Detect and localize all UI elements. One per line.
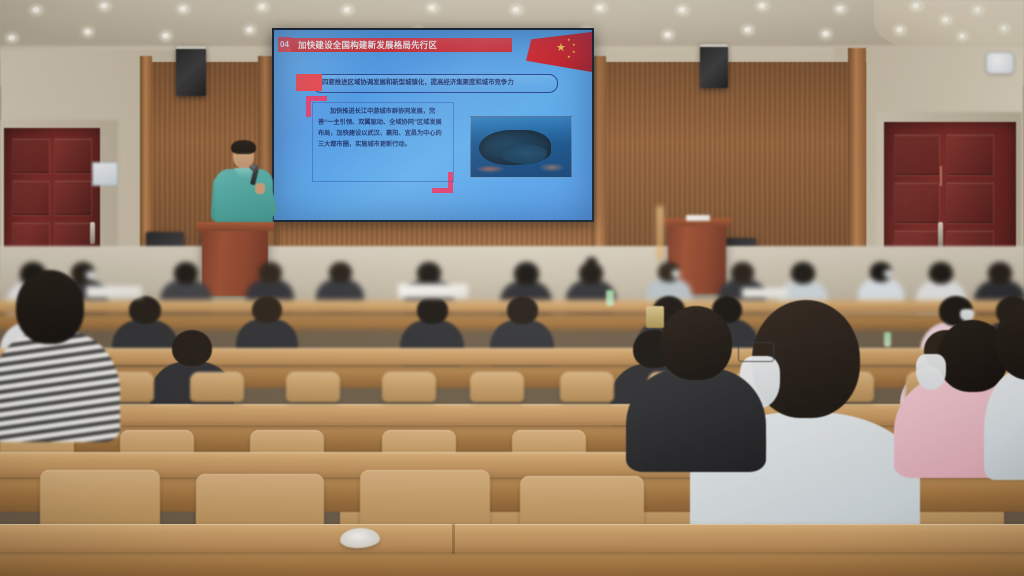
face-mask [916,354,946,390]
ceiling-downlight [744,27,752,33]
ceiling-downlight [512,7,521,13]
audience-member-torso [984,370,1024,480]
ceiling-downlight [912,3,921,9]
ceiling-downlight [162,33,170,39]
foreground-desk-front [0,552,1024,576]
ceiling-downlight [942,17,950,23]
wall-speaker-left [176,46,206,96]
flag-star-3: ★ [572,50,576,54]
audience-member-head [329,262,352,283]
audience-member-head [507,296,538,324]
ceiling-downlight [974,7,982,13]
wall-sign-left [92,162,118,186]
ceiling-downlight [959,34,966,39]
desk-seam [452,524,455,554]
audience-member-head [731,262,754,283]
audience-member-head [259,262,282,283]
audience-chair[interactable] [286,372,340,402]
audience-member-foreground [984,300,1024,460]
podium-paper [686,215,710,221]
ceiling-downlight [8,35,16,41]
audience-member-head [514,262,539,285]
projection-screen: ★ ★ ★ ★ ★ 04 加快建设全国构建新发展格局先行区 四要推进区域协调发展… [272,28,594,222]
audience-chair[interactable] [190,372,244,402]
ceiling-downlight [758,3,767,9]
audience-member-head [174,262,198,284]
face-mask [672,270,681,278]
slide-title: 加快建设全国构建新发展格局先行区 [298,38,437,52]
wall-speaker-right [700,44,728,88]
audience-member-torso [626,368,766,472]
audience-member-head [660,306,732,380]
face-mask [884,270,893,278]
foreground-desk [0,524,1024,554]
audience-member-head [988,262,1012,284]
slide-subtitle: 四要推进区域协调发展和新型城镇化，提高经济集聚度和城市竞争力 [322,74,514,91]
ceiling-downlight [32,7,41,13]
ceiling-downlight [179,6,188,12]
audience-member-head [791,262,815,284]
ceiling-downlight [258,4,267,10]
flag-star-2: ★ [572,43,576,47]
audience-member-head [417,262,441,284]
presentation-slide: ★ ★ ★ ★ ★ 04 加快建设全国构建新发展格局先行区 四要推进区域协调发展… [274,30,592,220]
flag-star-large: ★ [556,43,566,54]
china-flag-graphic: ★ ★ ★ ★ ★ [526,32,592,72]
audience-member-head [929,262,953,284]
audience-member-head [417,296,448,324]
notebook-paper [398,284,468,298]
audience-chair[interactable] [382,372,436,402]
slide-photo [470,116,572,178]
wall-clock [986,52,1014,74]
audience-member-torso [0,332,120,442]
water-bottle [606,290,614,306]
ceiling-downlight [343,7,352,13]
ceiling-downlight [596,5,605,11]
ceiling-downlight [678,7,687,13]
lecture-hall-photograph: ★ ★ ★ ★ ★ 04 加快建设全国构建新发展格局先行区 四要推进区域协调发展… [0,0,1024,576]
slide-body-text: 加快推进长江中游城市群协同发展，完善“一主引领、双翼驱动、全域协同”区域发展布局… [318,106,446,150]
ceiling-downlight [84,29,92,35]
flag-star-4: ★ [567,55,571,59]
ceiling-downlight [1001,26,1008,31]
audience-chair[interactable] [470,372,524,402]
ceiling-downlight [836,6,845,12]
ceiling-downlight [822,31,830,37]
audience-member-head [16,270,84,344]
audience-member-foreground [0,270,120,430]
podium-top [196,222,274,231]
ceiling-downlight [428,5,437,11]
presenter-glasses [235,152,252,157]
slide-section-number: 04 [278,37,291,52]
ceiling-downlight [100,3,109,9]
audience-chair[interactable] [560,372,614,402]
audience-member-foreground [626,306,766,456]
audience-member-head [996,300,1024,380]
notebook-paper [742,288,788,298]
hair-clip [646,306,664,328]
audience-member-head [252,296,282,323]
face-mask [960,309,974,321]
door-handle-right[interactable] [938,222,943,248]
slide-subtitle-accent [296,74,322,91]
audience-member-head [129,296,161,324]
flag-star-1: ★ [567,38,571,42]
ceiling-downlight [896,27,904,33]
audience-member-head [172,330,212,366]
ceiling-downlight [246,27,254,33]
podium-lamp-glow [657,206,663,260]
ceiling-downlight [664,32,672,38]
door-handle-left[interactable] [90,222,95,244]
audience-member-hair-bun [586,257,597,267]
